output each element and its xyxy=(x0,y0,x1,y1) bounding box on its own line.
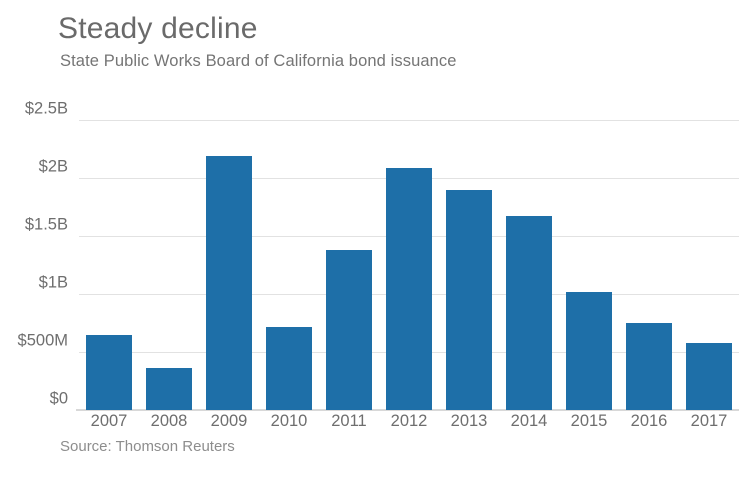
bar-2016 xyxy=(626,323,672,410)
bar-slot xyxy=(379,120,439,410)
bar-slot xyxy=(619,120,679,410)
x-axis-labels: 2007200820092010201120122013201420152016… xyxy=(79,412,739,438)
x-axis-tick-label-2016: 2016 xyxy=(619,412,679,431)
bar-slot xyxy=(319,120,379,410)
bar-slot xyxy=(559,120,619,410)
bar-2017 xyxy=(686,343,732,410)
x-axis-tick-label-2010: 2010 xyxy=(259,412,319,431)
x-axis-tick-label-2009: 2009 xyxy=(199,412,259,431)
x-axis-tick-label-2015: 2015 xyxy=(559,412,619,431)
bar-chart-figure: Steady decline State Public Works Board … xyxy=(0,0,740,482)
x-axis-tick-label-2013: 2013 xyxy=(439,412,499,431)
bar-2010 xyxy=(266,327,312,410)
bar-slot xyxy=(679,120,739,410)
bar-2015 xyxy=(566,292,612,410)
bar-2011 xyxy=(326,250,372,410)
bar-2013 xyxy=(446,190,492,410)
x-axis-tick-label-2011: 2011 xyxy=(319,412,379,431)
bar-slot xyxy=(259,120,319,410)
bar-2012 xyxy=(386,168,432,410)
chart-title: Steady decline xyxy=(58,12,258,46)
y-axis-tick-label: $2B xyxy=(39,158,68,177)
chart-subtitle: State Public Works Board of California b… xyxy=(60,52,457,71)
bar-series xyxy=(79,120,739,410)
y-axis-tick-label: $1B xyxy=(39,274,68,293)
bar-slot xyxy=(499,120,559,410)
x-axis-tick-label-2014: 2014 xyxy=(499,412,559,431)
bar-2008 xyxy=(146,368,192,410)
y-axis-labels: $0$500M$1B$1.5B$2B$2.5B xyxy=(0,120,74,410)
bar-2009 xyxy=(206,156,252,410)
bar-slot xyxy=(139,120,199,410)
y-axis-tick-label: $1.5B xyxy=(25,216,68,235)
y-axis-tick-label: $2.5B xyxy=(25,100,68,119)
plot-area xyxy=(79,120,739,410)
bar-slot xyxy=(79,120,139,410)
bar-2007 xyxy=(86,335,132,410)
chart-source-note: Source: Thomson Reuters xyxy=(60,438,235,455)
y-axis-tick-label: $0 xyxy=(50,390,68,409)
x-axis-tick-label-2012: 2012 xyxy=(379,412,439,431)
bar-2014 xyxy=(506,216,552,410)
y-axis-tick-label: $500M xyxy=(18,332,68,351)
x-axis-tick-label-2008: 2008 xyxy=(139,412,199,431)
x-axis-tick-label-2007: 2007 xyxy=(79,412,139,431)
bar-slot xyxy=(199,120,259,410)
x-axis-tick-label-2017: 2017 xyxy=(679,412,739,431)
bar-slot xyxy=(439,120,499,410)
